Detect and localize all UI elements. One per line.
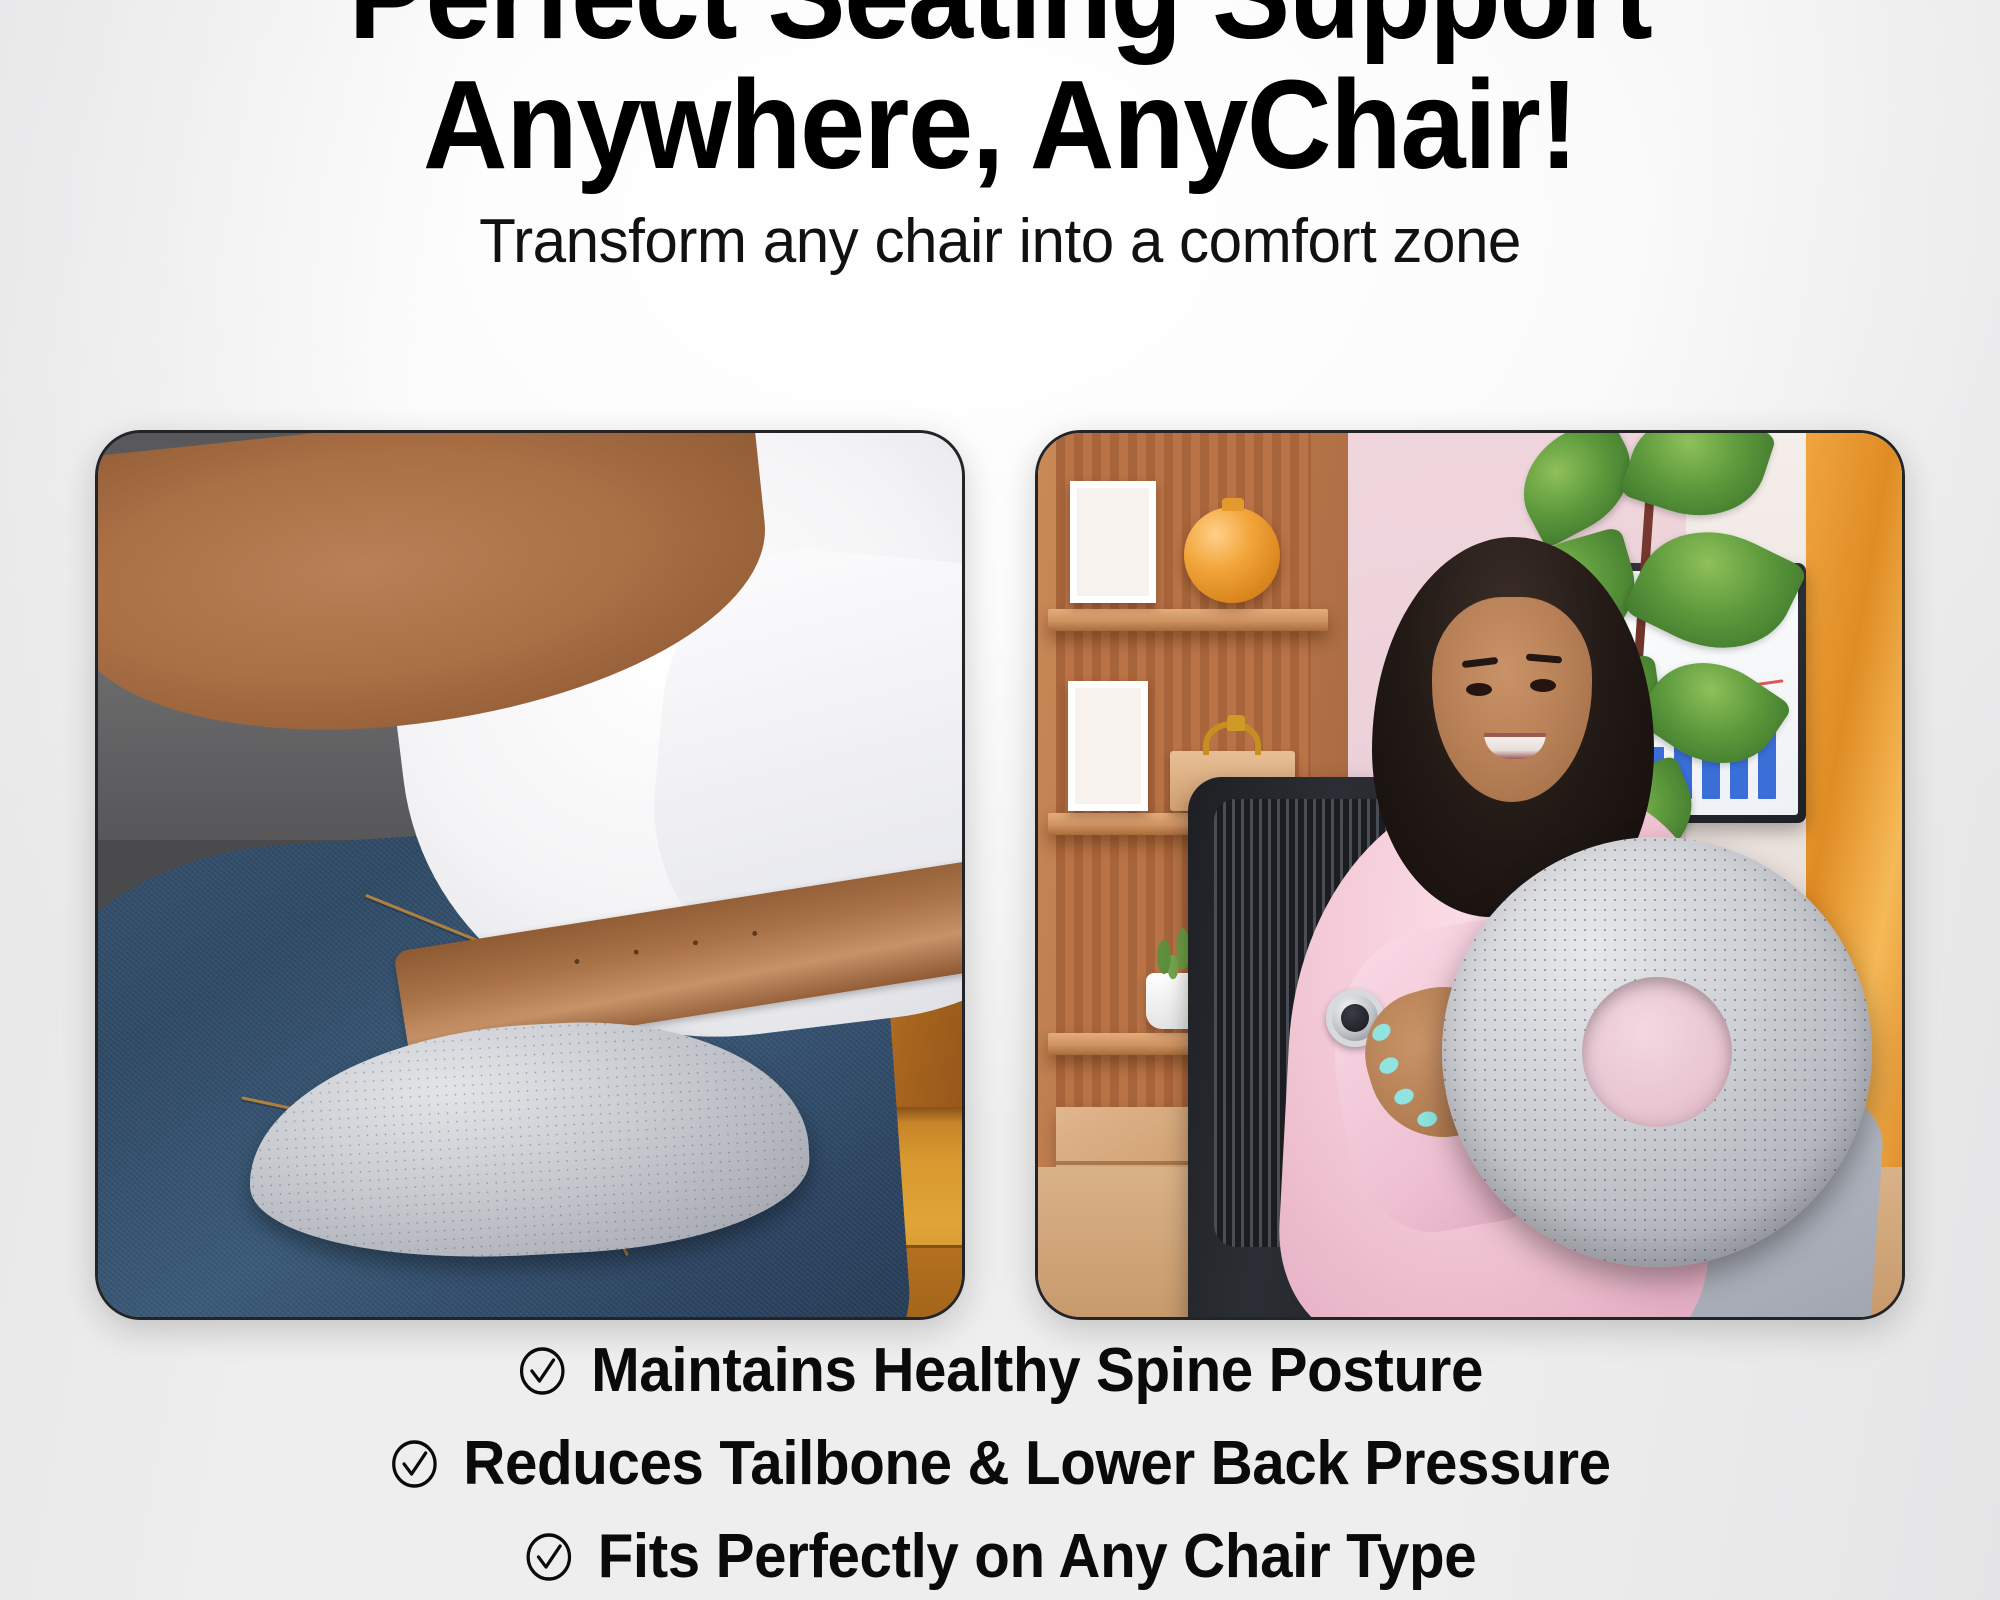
bookshelf-picture-frame	[1068, 681, 1148, 811]
bookshelf-shelf	[1048, 609, 1328, 631]
benefit-item-1: Maintains Healthy Spine Posture	[517, 1335, 1482, 1406]
headline-line-1: Perfect Seating Support	[70, 0, 1930, 60]
benefit-label: Fits Perfectly on Any Chair Type	[597, 1521, 1476, 1592]
page-subtitle: Transform any chair into a comfort zone	[30, 208, 1970, 276]
fingernail	[1376, 1054, 1401, 1077]
donut-cushion-product	[1442, 837, 1872, 1267]
benefit-label: Maintains Healthy Spine Posture	[591, 1335, 1483, 1406]
right-photo-model-head	[1406, 563, 1616, 813]
fingernail	[1369, 1020, 1394, 1044]
circled-check-icon	[390, 1438, 439, 1490]
product-photo-bench-cushion	[95, 430, 965, 1320]
bookshelf-vase	[1184, 507, 1280, 603]
model-smile	[1484, 733, 1546, 759]
model-eye	[1530, 679, 1556, 692]
circled-check-icon	[517, 1345, 566, 1397]
fingernail	[1416, 1110, 1439, 1129]
donut-cushion-hole	[1582, 977, 1732, 1127]
benefits-list: Maintains Healthy Spine Posture Reduces …	[0, 1335, 2000, 1592]
circled-check-icon	[524, 1531, 573, 1583]
benefit-item-3: Fits Perfectly on Any Chair Type	[524, 1521, 1476, 1592]
fingernail	[1392, 1086, 1416, 1107]
model-eyebrow	[1462, 657, 1499, 668]
product-photo-office-donut	[1035, 430, 1905, 1320]
header: Perfect Seating Support Anywhere, AnyCha…	[0, 0, 2000, 276]
page-title: Perfect Seating Support Anywhere, AnyCha…	[70, 0, 1930, 190]
photo-gallery	[0, 430, 2000, 1330]
model-eyebrow	[1526, 653, 1562, 663]
headline-line-2: Anywhere, AnyChair!	[70, 60, 1930, 190]
bookshelf-picture-frame	[1070, 481, 1156, 603]
benefit-item-2: Reduces Tailbone & Lower Back Pressure	[390, 1428, 1611, 1499]
benefit-label: Reduces Tailbone & Lower Back Pressure	[463, 1428, 1610, 1499]
model-eye	[1466, 683, 1492, 696]
